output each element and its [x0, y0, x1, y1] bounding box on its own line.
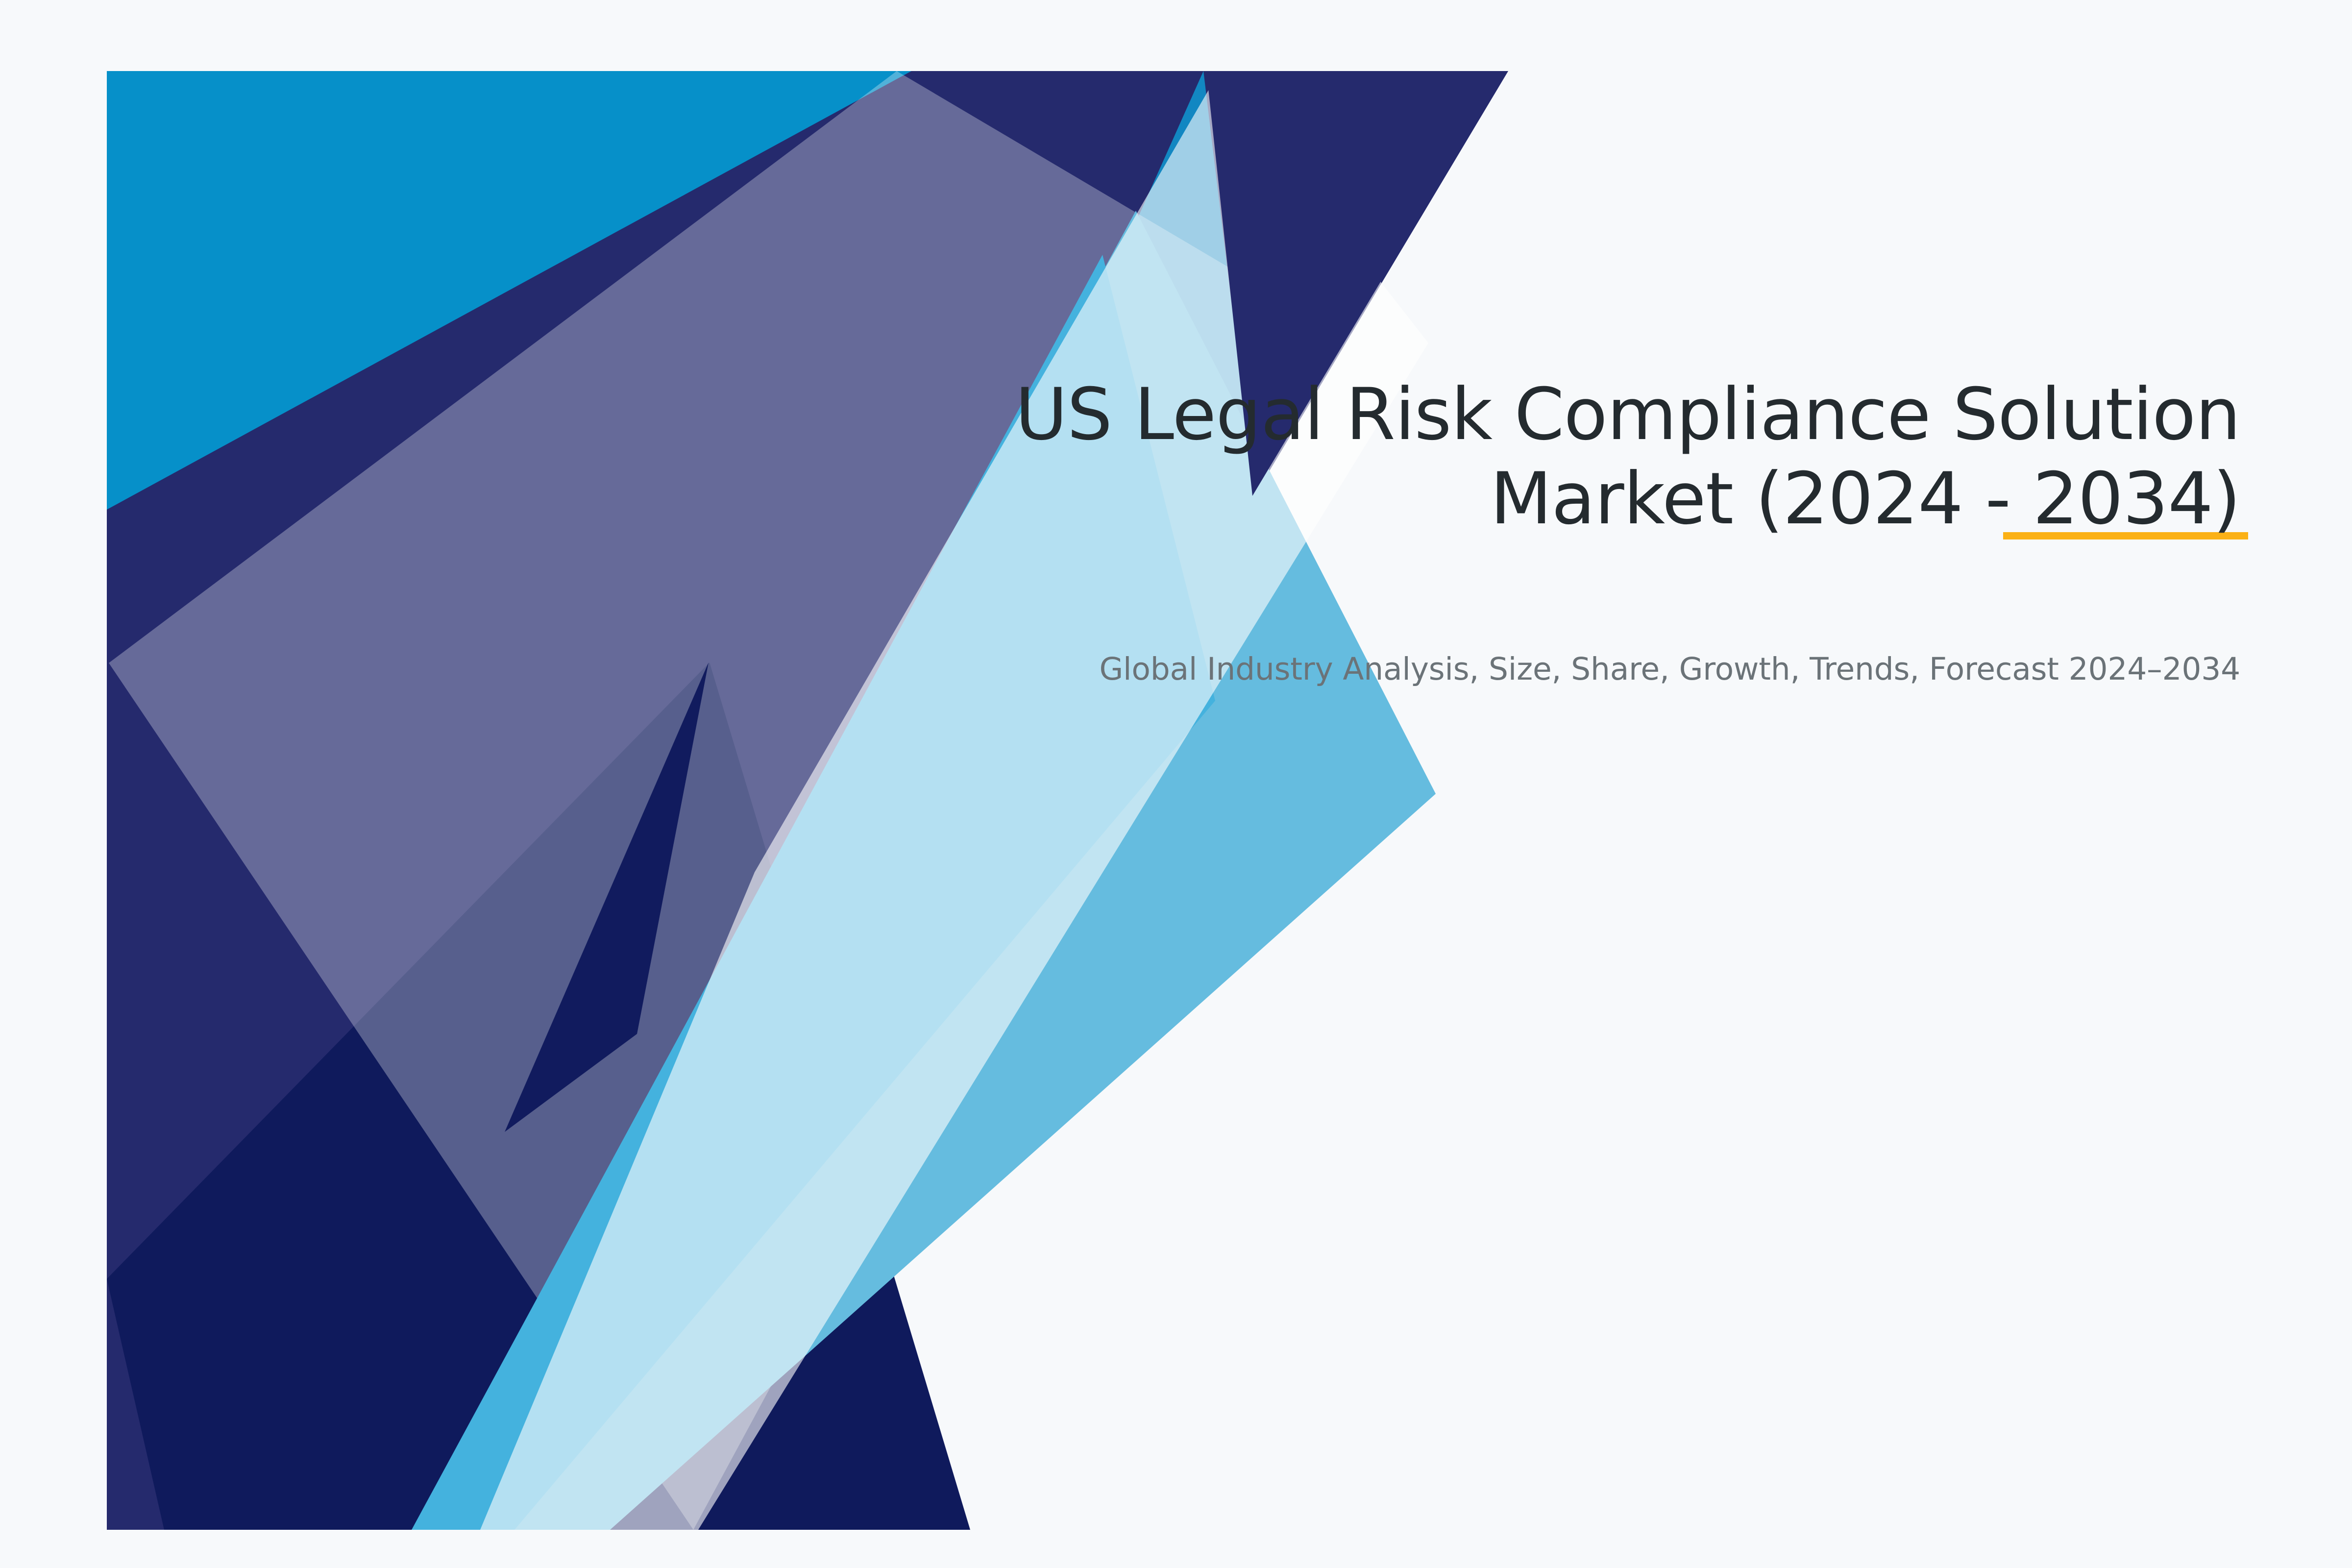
page-subtitle: Global Industry Analysis, Size, Share, G…: [931, 649, 2240, 690]
page-title: US Legal Risk Compliance Solution Market…: [931, 372, 2240, 541]
cyan-block-shape: [107, 71, 1205, 1530]
report-cover: US Legal Risk Compliance Solution Market…: [0, 0, 2352, 1568]
abstract-geometric-artwork: [0, 0, 2352, 1568]
cover-text-block: US Legal Risk Compliance Solution Market…: [931, 372, 2240, 690]
pale-blue-overlay-shape: [480, 73, 1428, 1530]
deep-navy-spike-shape: [505, 662, 709, 1132]
steel-blue-overlay-shape: [109, 71, 1340, 1530]
deep-navy-band-shape: [107, 662, 970, 1530]
navy-wedge-shape: [107, 71, 1508, 1530]
title-wrapper: US Legal Risk Compliance Solution Market…: [931, 372, 2240, 541]
